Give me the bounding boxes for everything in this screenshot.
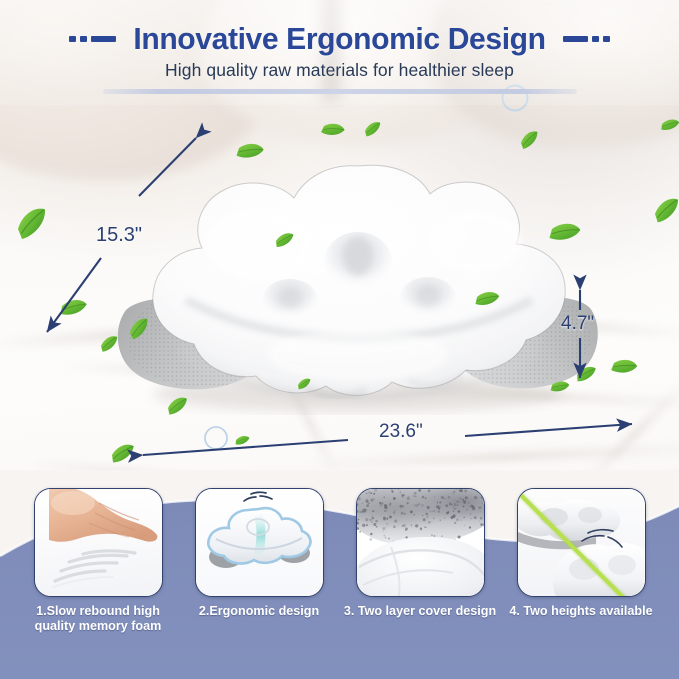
feature-caption-4: 4. Two heights available <box>501 604 661 619</box>
feature-card-3[interactable]: 3. Two layer cover design <box>347 488 494 679</box>
foam-contour-icon <box>357 489 484 596</box>
title-row: Innovative Ergonomic Design <box>0 18 679 60</box>
dimension-label-depth: 15.3" <box>96 224 142 247</box>
feature-caption-1: 1.Slow rebound high quality memory foam <box>18 604 178 635</box>
dimension-label-height: 4.7" <box>561 313 594 335</box>
cloud-pillow-diagram-icon <box>196 489 323 596</box>
subtitle-wrap: High quality raw materials for healthier… <box>0 60 679 85</box>
feature-thumb-two-layer-cover[interactable] <box>356 488 485 597</box>
product-infographic: 15.3" 4.7" 23.6" Innovative Ergonomic De… <box>0 0 679 679</box>
page-title: Innovative Ergonomic Design <box>133 21 545 57</box>
feature-thumb-hand-memory-foam[interactable] <box>34 488 163 597</box>
feature-thumb-two-heights[interactable] <box>517 488 646 597</box>
feature-caption-3: 3. Two layer cover design <box>340 604 500 619</box>
feature-card-2[interactable]: 2.Ergonomic design <box>186 488 333 679</box>
feature-card-1[interactable]: 1.Slow rebound high quality memory foam <box>25 488 172 679</box>
feature-panel: 1.Slow rebound high quality memory foam <box>0 470 679 679</box>
subtitle-underline <box>103 89 577 94</box>
feature-cards: 1.Slow rebound high quality memory foam <box>0 470 679 679</box>
feature-caption-2: 2.Ergonomic design <box>179 604 339 619</box>
pillow-illustration <box>108 150 608 415</box>
feature-thumb-ergonomic-diagram[interactable] <box>195 488 324 597</box>
dash-decoration-right-icon <box>563 36 610 42</box>
feature-card-4[interactable]: 4. Two heights available <box>508 488 655 679</box>
two-height-pillows-icon <box>518 489 645 596</box>
foam-imprint-icon <box>43 541 155 593</box>
header: Innovative Ergonomic Design High quality… <box>0 0 679 105</box>
dimension-label-width: 23.6" <box>379 421 423 443</box>
page-subtitle: High quality raw materials for healthier… <box>157 60 522 85</box>
dash-decoration-left-icon <box>69 36 116 42</box>
